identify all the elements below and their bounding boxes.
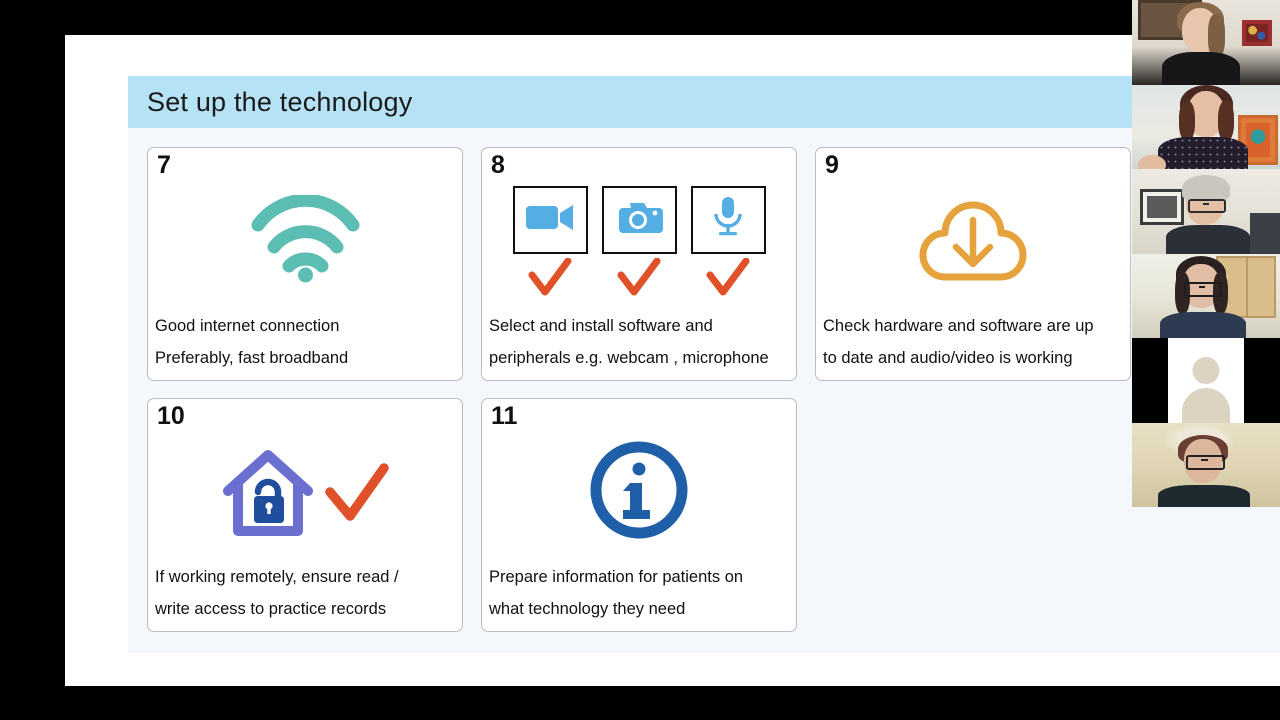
participant-torso: [1166, 225, 1250, 254]
caption-line: what technology they need: [489, 593, 790, 625]
card-7[interactable]: 7 Good internet con: [147, 147, 463, 381]
background-wall-art: [1242, 20, 1272, 46]
checkmark-icon: [528, 258, 572, 303]
participant-torso: [1162, 52, 1240, 85]
check-cell: [691, 258, 766, 303]
cloud-download-icon: [912, 193, 1034, 290]
caption-line: peripherals e.g. webcam , microphone: [489, 342, 790, 374]
participant-tile-3[interactable]: [1132, 169, 1280, 254]
participant-tile-1[interactable]: [1132, 0, 1280, 85]
slide-title-band: Set up the technology: [128, 76, 1280, 128]
participant-tile-4[interactable]: [1132, 254, 1280, 339]
card-caption: Check hardware and software are up to da…: [823, 310, 1124, 374]
check-cell: [602, 258, 677, 303]
participant-shirt-pattern: [1158, 137, 1248, 170]
device-checklist: [513, 186, 766, 303]
caption-line: Prepare information for patients on: [489, 561, 790, 593]
slide-surface: Set up the technology 7: [65, 35, 1280, 686]
caption-line: to date and audio/video is working: [823, 342, 1124, 374]
card-10[interactable]: 10: [147, 398, 463, 632]
participant-hair-side: [1179, 101, 1195, 141]
card-9[interactable]: 9 Check hardware and software are up: [815, 147, 1131, 381]
avatar-head-icon: [1193, 357, 1220, 384]
background-picture-frame: [1140, 189, 1184, 225]
card-art: [816, 166, 1130, 316]
participant-torso: [1160, 312, 1246, 339]
participant-glasses: [1188, 199, 1226, 213]
checkmark-icon: [324, 462, 390, 529]
card-art: [482, 417, 796, 567]
caption-line: Good internet connection: [155, 310, 456, 342]
video-participant-strip[interactable]: [1132, 0, 1280, 507]
page-title: Set up the technology: [128, 87, 412, 118]
card-11[interactable]: 11 Prepare information for patients on w…: [481, 398, 797, 632]
video-camera-box: [513, 186, 588, 254]
card-grid: 7 Good internet con: [147, 147, 1267, 649]
card-8[interactable]: 8: [481, 147, 797, 381]
caption-line: write access to practice records: [155, 593, 456, 625]
caption-line: Preferably, fast broadband: [155, 342, 456, 374]
microphone-icon: [711, 195, 745, 244]
participant-hair-side: [1218, 101, 1234, 141]
participant-tile-6[interactable]: [1132, 423, 1280, 508]
device-check-row: [513, 258, 766, 303]
check-cell: [513, 258, 588, 303]
checkmark-icon: [706, 258, 750, 303]
microphone-box: [691, 186, 766, 254]
checkmark-icon: [617, 258, 661, 303]
participant-tile-5[interactable]: [1132, 338, 1280, 423]
card-caption: Good internet connection Preferably, fas…: [155, 310, 456, 374]
card-caption: Select and install software and peripher…: [489, 310, 790, 374]
caption-line: Check hardware and software are up: [823, 310, 1124, 342]
participant-hair: [1182, 175, 1230, 201]
card-row-bottom: 10: [147, 398, 1267, 632]
card-art: [148, 166, 462, 316]
house-check-group: [220, 445, 390, 546]
avatar-body-icon: [1182, 388, 1230, 423]
card-caption: Prepare information for patients on what…: [489, 561, 790, 625]
info-circle-icon: [587, 438, 691, 547]
avatar-placeholder: [1168, 338, 1244, 423]
photo-camera-icon: [615, 200, 663, 239]
house-lock-icon: [220, 445, 316, 546]
participant-glasses: [1184, 282, 1222, 297]
card-caption: If working remotely, ensure read / write…: [155, 561, 456, 625]
photo-camera-box: [602, 186, 677, 254]
participant-glasses: [1186, 455, 1225, 470]
video-camera-icon: [525, 201, 575, 238]
card-row-top: 7 Good internet con: [147, 147, 1267, 381]
caption-line: Select and install software and: [489, 310, 790, 342]
wifi-icon: [248, 195, 363, 288]
caption-line: If working remotely, ensure read /: [155, 561, 456, 593]
device-icon-boxes: [513, 186, 766, 254]
participant-torso: [1158, 485, 1250, 508]
card-art: [482, 166, 796, 316]
participant-tile-2[interactable]: [1132, 85, 1280, 170]
background-chair: [1250, 213, 1280, 254]
card-art: [148, 417, 462, 567]
